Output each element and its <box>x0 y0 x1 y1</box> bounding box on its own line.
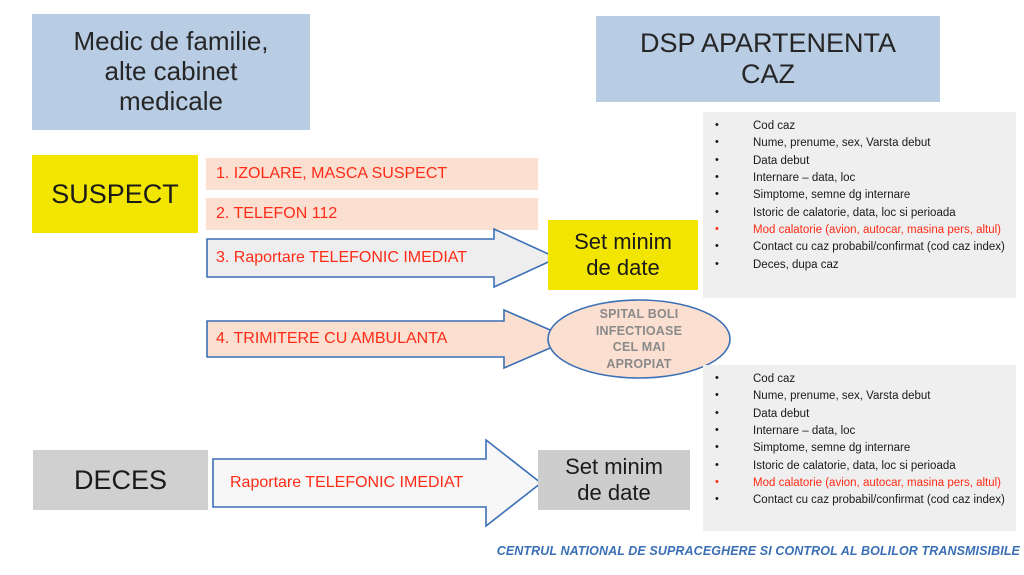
bullet-item: •Istoric de calatorie, data, loc si peri… <box>709 458 1008 474</box>
bullet-dot-icon: • <box>709 135 753 151</box>
set-minim-1-line1: Set minim <box>574 229 672 255</box>
bullet-item-text: Nume, prenume, sex, Varsta debut <box>753 135 1008 151</box>
bullet-item-text: Simptome, semne dg internare <box>753 187 1008 203</box>
panel-set-minim-date-top: •Cod caz•Nume, prenume, sex, Varsta debu… <box>703 112 1016 298</box>
bullet-item: •Mod calatorie (avion, autocar, masina p… <box>709 475 1008 491</box>
header-dsp-apartenenta-caz: DSP APARTENENTA CAZ <box>596 16 940 102</box>
bullet-item-text: Mod calatorie (avion, autocar, masina pe… <box>753 222 1008 238</box>
bullet-item: •Simptome, semne dg internare <box>709 187 1008 203</box>
ellipse-line4: APROPIAT <box>606 356 671 373</box>
deces-arrow: Raportare TELEFONIC IMEDIAT <box>212 438 542 528</box>
bullet-dot-icon: • <box>709 458 753 474</box>
bullet-item: •Data debut <box>709 153 1008 169</box>
ellipse-line1: SPITAL BOLI <box>600 306 679 323</box>
bullet-item-text: Istoric de calatorie, data, loc si perio… <box>753 205 1008 221</box>
slide-canvas: Medic de familie, alte cabinet medicale … <box>0 0 1024 575</box>
header-right-line1: DSP APARTENENTA <box>640 28 896 59</box>
bullet-item-text: Cod caz <box>753 371 1008 387</box>
bullet-item-text: Mod calatorie (avion, autocar, masina pe… <box>753 475 1008 491</box>
bullet-item: •Internare – data, loc <box>709 423 1008 439</box>
step-2-telefon-112: 2. TELEFON 112 <box>206 198 538 230</box>
bullet-item: •Istoric de calatorie, data, loc si peri… <box>709 205 1008 221</box>
header-left-line1: Medic de familie, <box>73 27 268 57</box>
bullet-item-text: Internare – data, loc <box>753 170 1008 186</box>
bullet-dot-icon: • <box>709 187 753 203</box>
bullet-item-text: Deces, dupa caz <box>753 257 1008 273</box>
panel-top-list: •Cod caz•Nume, prenume, sex, Varsta debu… <box>709 118 1008 273</box>
bullet-dot-icon: • <box>709 153 753 169</box>
step-4-arrow-shape <box>206 308 572 370</box>
bullet-item: •Cod caz <box>709 371 1008 387</box>
bullet-item: •Data debut <box>709 406 1008 422</box>
header-left-line2: alte cabinet <box>73 57 268 87</box>
bullet-dot-icon: • <box>709 222 753 238</box>
bullet-item-text: Nume, prenume, sex, Varsta debut <box>753 388 1008 404</box>
footer-organization: CENTRUL NATIONAL DE SUPRACEGHERE SI CONT… <box>460 544 1020 558</box>
bullet-dot-icon: • <box>709 205 753 221</box>
panel-set-minim-date-bottom: •Cod caz•Nume, prenume, sex, Varsta debu… <box>703 365 1016 531</box>
ellipse-line2: INFECTIOASE <box>596 323 682 340</box>
bullet-dot-icon: • <box>709 406 753 422</box>
bullet-item-text: Data debut <box>753 406 1008 422</box>
step-3-arrow-shape <box>206 228 558 288</box>
bullet-dot-icon: • <box>709 257 753 273</box>
deces-arrow-shape <box>212 438 542 528</box>
suspect-label-text: SUSPECT <box>51 179 179 210</box>
bullet-dot-icon: • <box>709 239 753 255</box>
bullet-dot-icon: • <box>709 170 753 186</box>
bullet-item-text: Data debut <box>753 153 1008 169</box>
bullet-item: •Cod caz <box>709 118 1008 134</box>
bullet-dot-icon: • <box>709 475 753 491</box>
step-1-izolare-masca: 1. IZOLARE, MASCA SUSPECT <box>206 158 538 190</box>
set-minim-1-line2: de date <box>574 255 672 281</box>
panel-bottom-list: •Cod caz•Nume, prenume, sex, Varsta debu… <box>709 371 1008 509</box>
footer-text: CENTRUL NATIONAL DE SUPRACEGHERE SI CONT… <box>497 544 1020 558</box>
step-4-arrow: 4. TRIMITERE CU AMBULANTA <box>206 308 572 370</box>
deces-label-box: DECES <box>33 450 208 510</box>
bullet-item: •Deces, dupa caz <box>709 257 1008 273</box>
set-minim-1-text: Set minim de date <box>574 229 672 281</box>
header-left-text: Medic de familie, alte cabinet medicale <box>73 27 268 117</box>
set-minim-de-date-gray: Set minim de date <box>538 450 690 510</box>
header-right-text: DSP APARTENENTA CAZ <box>640 28 896 90</box>
bullet-item-text: Cod caz <box>753 118 1008 134</box>
bullet-item: •Nume, prenume, sex, Varsta debut <box>709 388 1008 404</box>
header-left-line3: medicale <box>73 87 268 117</box>
ellipse-line3: CEL MAI <box>613 339 666 356</box>
step-2-text: 2. TELEFON 112 <box>216 205 337 223</box>
set-minim-2-text: Set minim de date <box>565 454 663 506</box>
suspect-label-box: SUSPECT <box>32 155 198 233</box>
bullet-dot-icon: • <box>709 423 753 439</box>
bullet-dot-icon: • <box>709 371 753 387</box>
bullet-item-text: Contact cu caz probabil/confirmat (cod c… <box>753 492 1008 508</box>
header-medic-de-familie: Medic de familie, alte cabinet medicale <box>32 14 310 130</box>
step-3-arrow: 3. Raportare TELEFONIC IMEDIAT <box>206 228 558 288</box>
set-minim-2-line1: Set minim <box>565 454 663 480</box>
bullet-dot-icon: • <box>709 118 753 134</box>
bullet-item-text: Contact cu caz probabil/confirmat (cod c… <box>753 239 1008 255</box>
bullet-item-text: Istoric de calatorie, data, loc si perio… <box>753 458 1008 474</box>
deces-label-text: DECES <box>74 465 167 496</box>
bullet-dot-icon: • <box>709 440 753 456</box>
bullet-item: •Nume, prenume, sex, Varsta debut <box>709 135 1008 151</box>
set-minim-de-date-yellow: Set minim de date <box>548 220 698 290</box>
bullet-item-text: Internare – data, loc <box>753 423 1008 439</box>
bullet-dot-icon: • <box>709 492 753 508</box>
header-right-line2: CAZ <box>640 59 896 90</box>
step-1-text: 1. IZOLARE, MASCA SUSPECT <box>216 165 447 183</box>
bullet-item: •Internare – data, loc <box>709 170 1008 186</box>
bullet-item: •Simptome, semne dg internare <box>709 440 1008 456</box>
bullet-item: •Contact cu caz probabil/confirmat (cod … <box>709 492 1008 508</box>
bullet-item-text: Simptome, semne dg internare <box>753 440 1008 456</box>
bullet-dot-icon: • <box>709 388 753 404</box>
bullet-item: •Contact cu caz probabil/confirmat (cod … <box>709 239 1008 255</box>
bullet-item: •Mod calatorie (avion, autocar, masina p… <box>709 222 1008 238</box>
set-minim-2-line2: de date <box>565 480 663 506</box>
